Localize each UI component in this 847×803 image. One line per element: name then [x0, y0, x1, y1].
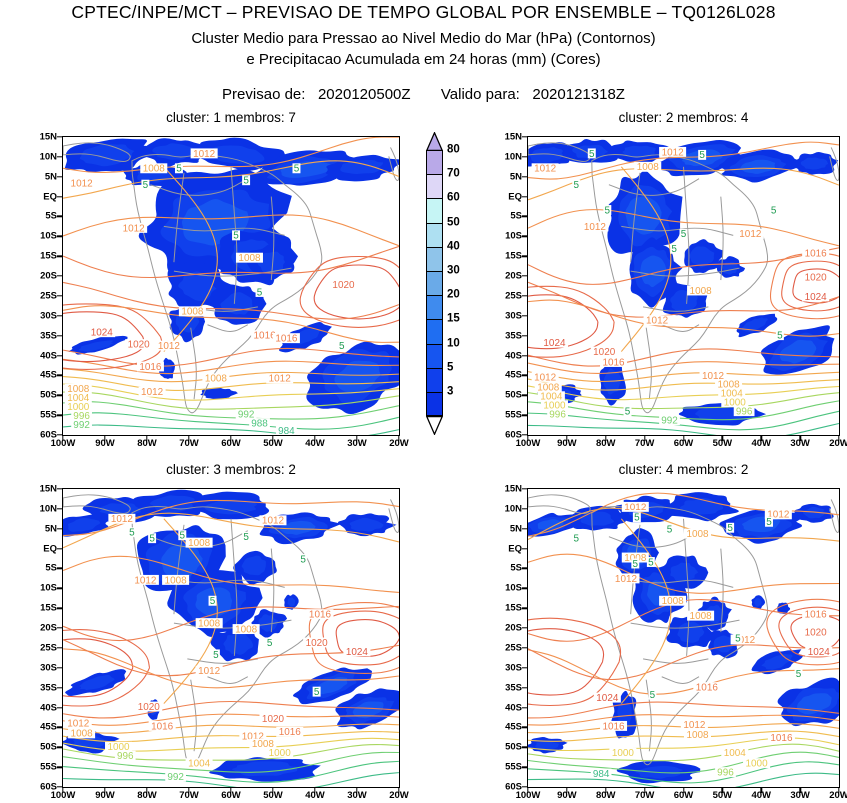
svg-text:1016: 1016: [770, 733, 793, 744]
y-axis-tick-label-10n: 10N: [40, 152, 57, 162]
svg-text:992: 992: [167, 772, 184, 783]
svg-text:1008: 1008: [181, 307, 204, 318]
map-graphic: 1012100810121012100810201024102010121016…: [63, 137, 399, 435]
y-axis-tick: [57, 488, 62, 489]
contour-label: 1016: [693, 682, 720, 693]
colorbar-precipitation: 80706050403020151053: [420, 132, 492, 440]
y-axis-tick: [57, 395, 62, 396]
svg-text:5: 5: [671, 244, 677, 255]
svg-text:5: 5: [213, 650, 219, 661]
y-axis-tick-label-20s: 20S: [40, 623, 57, 633]
y-axis-tick: [57, 528, 62, 529]
y-axis-tick-label-25s: 25S: [505, 291, 522, 301]
colorbar-tick-label: 30: [447, 265, 460, 277]
svg-text:5: 5: [771, 205, 777, 216]
y-axis-tick: [522, 747, 527, 748]
y-axis-tick: [522, 216, 527, 217]
y-axis-tick-label-50s: 50S: [505, 743, 522, 753]
colorbar-tick-label: 70: [447, 168, 460, 180]
y-axis-tick-label-40s: 40S: [40, 703, 57, 713]
svg-text:1008: 1008: [188, 538, 211, 549]
contour-label: 996: [734, 406, 755, 417]
svg-text:992: 992: [73, 420, 90, 431]
contour-label: 1012: [259, 515, 286, 526]
x-axis-tick: [644, 788, 645, 793]
y-axis-tick-label-30s: 30S: [40, 663, 57, 673]
contour-label: 1024: [805, 646, 832, 657]
colorbar-segment: [426, 392, 443, 416]
y-axis-tick-label-10s: 10S: [505, 584, 522, 594]
y-axis-tick: [57, 295, 62, 296]
contour-label: 1008: [684, 730, 711, 741]
contour-label: 992: [165, 772, 186, 783]
y-axis-tick-label-20s: 20S: [40, 271, 57, 281]
svg-text:1000: 1000: [612, 748, 635, 759]
x-axis-tick: [356, 788, 357, 793]
y-axis-tick: [522, 335, 527, 336]
y-axis-tick-label-15n: 15N: [505, 484, 522, 494]
y-axis-tick-label-15s: 15S: [40, 603, 57, 613]
contour-label: 1024: [541, 338, 568, 349]
y-axis-tick: [57, 236, 62, 237]
svg-text:1004: 1004: [724, 748, 747, 759]
coastline: [207, 677, 247, 684]
colorbar-top-arrow-icon: [426, 132, 443, 151]
svg-text:1016: 1016: [805, 249, 828, 260]
x-axis-tick: [683, 436, 684, 441]
map-panel-cluster-3[interactable]: 1012101210081012100810081008101610201024…: [62, 488, 400, 788]
precip-contour-label: 5: [242, 532, 250, 543]
x-axis-tick: [230, 436, 231, 441]
y-axis-tick-label-45s: 45S: [40, 723, 57, 733]
contour-label: 1008: [233, 624, 260, 635]
panel-title-cluster-1: cluster: 1 membros: 7: [62, 110, 400, 125]
contour-label: 1008: [684, 529, 711, 540]
svg-text:988: 988: [251, 418, 268, 429]
colorbar-segment: [426, 271, 443, 295]
precip-contour-label: 5: [698, 150, 706, 161]
y-axis-tick: [57, 786, 62, 787]
contour-label: 1012: [132, 575, 159, 586]
y-axis-tick-label-30s: 30S: [505, 311, 522, 321]
precip-contour-label: 5: [266, 638, 274, 649]
colorbar-tick-label: 10: [447, 338, 460, 350]
isobar-contour: [528, 210, 839, 246]
contour-label: 1012: [737, 229, 764, 240]
y-axis-tick: [522, 588, 527, 589]
contour-label: 1008: [236, 253, 263, 264]
precipitation-shading: [751, 595, 765, 609]
contour-label: 1008: [687, 286, 714, 297]
x-axis-tick: [398, 436, 399, 441]
y-axis-tick: [522, 315, 527, 316]
y-axis-tick-label-5s: 5S: [45, 212, 57, 222]
y-axis-tick: [522, 275, 527, 276]
contour-label: 1000: [266, 748, 293, 759]
y-axis-tick-label-55s: 55S: [40, 762, 57, 772]
precip-contour-label: 5: [128, 527, 136, 538]
svg-text:1012: 1012: [624, 502, 647, 513]
svg-text:1012: 1012: [615, 574, 638, 585]
x-axis-tick: [605, 436, 606, 441]
svg-text:1012: 1012: [739, 229, 762, 240]
contour-label: 1020: [135, 702, 162, 713]
colorbar-segment: [426, 344, 443, 368]
contour-label: 1008: [68, 728, 95, 739]
precip-contour-label: 5: [256, 287, 264, 298]
y-axis-tick-label-10s: 10S: [40, 232, 57, 242]
y-axis-tick-label-35s: 35S: [505, 331, 522, 341]
colorbar-tick-label: 50: [447, 217, 460, 229]
x-axis-tick: [314, 788, 315, 793]
plot-area-3[interactable]: 1012101210081012100810081008101610201024…: [62, 488, 400, 788]
contour-label: 1012: [622, 502, 649, 513]
y-axis-tick: [522, 528, 527, 529]
y-axis-tick-label-25s: 25S: [40, 643, 57, 653]
x-axis-tick: [146, 436, 147, 441]
y-axis-tick-label-20s: 20S: [505, 271, 522, 281]
y-axis-tick-label-35s: 35S: [40, 683, 57, 693]
svg-text:1012: 1012: [111, 514, 134, 525]
y-axis-tick-label-10s: 10S: [40, 584, 57, 594]
colorbar-tick-label: 80: [447, 144, 460, 156]
contour-label: 1008: [162, 575, 189, 586]
x-axis-tick: [527, 436, 528, 441]
precip-contour-label: 5: [209, 596, 217, 607]
contour-label: 1012: [681, 719, 708, 730]
colorbar-tick-label: 3: [447, 386, 453, 398]
svg-text:5: 5: [650, 690, 656, 701]
svg-text:1016: 1016: [254, 331, 277, 342]
svg-text:1020: 1020: [805, 272, 828, 283]
y-axis-tick-label-25s: 25S: [505, 643, 522, 653]
y-axis-tick: [57, 335, 62, 336]
contour-label: 992: [659, 415, 680, 426]
y-axis-tick-label-10s: 10S: [505, 232, 522, 242]
colorbar-segment: [426, 198, 443, 222]
map-panel-cluster-1[interactable]: 1012100810121012100810201024102010121016…: [62, 136, 400, 436]
y-axis-tick-label-eq: EQ: [43, 192, 57, 202]
plot-area-4[interactable]: 1012101210081008101210081008101610201024…: [527, 488, 840, 788]
y-axis-tick: [522, 156, 527, 157]
contour-label: 1012: [196, 666, 223, 677]
y-axis-tick: [522, 255, 527, 256]
svg-text:1012: 1012: [71, 179, 94, 190]
y-axis-tick-label-eq: EQ: [508, 544, 522, 554]
x-axis-tick: [799, 788, 800, 793]
svg-text:5: 5: [633, 559, 639, 570]
panel-title-cluster-2: cluster: 2 membros: 4: [527, 110, 840, 125]
precip-contour-label: 5: [666, 524, 674, 535]
y-axis-tick-label-10n: 10N: [40, 504, 57, 514]
precip-contour-label: 5: [776, 330, 784, 341]
x-axis-tick: [146, 788, 147, 793]
y-axis-tick-label-30s: 30S: [505, 663, 522, 673]
contour-label: 1020: [303, 638, 330, 649]
x-axis-tick: [272, 788, 273, 793]
y-axis-tick-label-45s: 45S: [40, 371, 57, 381]
y-axis-tick: [57, 548, 62, 549]
contour-label: 1012: [532, 372, 559, 383]
contour-label: 1008: [687, 611, 714, 622]
svg-text:1024: 1024: [805, 292, 828, 303]
precipitation-shading: [663, 492, 739, 521]
svg-text:996: 996: [117, 751, 134, 762]
svg-text:1020: 1020: [128, 339, 151, 350]
y-axis-tick: [57, 707, 62, 708]
contour-label: 1008: [140, 163, 167, 174]
precipitation-shading: [734, 308, 780, 340]
svg-text:1024: 1024: [346, 647, 369, 658]
x-axis-tick: [838, 436, 839, 441]
isobar-contour: [63, 425, 399, 435]
contour-label: 1004: [186, 758, 213, 769]
svg-text:5: 5: [634, 513, 640, 524]
svg-text:1008: 1008: [71, 729, 94, 740]
x-axis-tick: [230, 788, 231, 793]
y-axis-tick: [57, 196, 62, 197]
y-axis-tick: [522, 508, 527, 509]
y-axis-tick: [522, 236, 527, 237]
y-axis-tick: [522, 355, 527, 356]
contour-label: 1008: [179, 306, 206, 317]
y-axis-tick-label-5n: 5N: [510, 172, 522, 182]
precip-contour-label: 5: [313, 687, 321, 698]
y-axis-tick: [57, 588, 62, 589]
map-panel-cluster-4[interactable]: 1012101210081008101210081008101610201024…: [527, 488, 840, 788]
x-axis-tick: [761, 436, 762, 441]
svg-text:1008: 1008: [690, 611, 713, 622]
contour-label: 1012: [68, 178, 95, 189]
forecast-validity-line: Previsao de: 2020120500Z Valido para: 20…: [0, 86, 847, 103]
svg-text:5: 5: [257, 287, 263, 298]
svg-text:1024: 1024: [543, 338, 566, 349]
y-axis-tick-label-35s: 35S: [40, 331, 57, 341]
svg-text:5: 5: [699, 150, 705, 161]
svg-text:1008: 1008: [205, 374, 228, 385]
contour-label: 1012: [644, 315, 671, 326]
y-axis-tick-label-5n: 5N: [45, 524, 57, 534]
precip-contour-label: 5: [680, 229, 688, 240]
x-axis-tick: [314, 436, 315, 441]
y-axis-tick: [522, 176, 527, 177]
x-axis-tick: [188, 788, 189, 793]
contour-label: 1012: [155, 341, 182, 352]
y-axis-tick-label-5s: 5S: [510, 564, 522, 574]
valid-for-label: Valido para:: [441, 86, 520, 103]
svg-text:1016: 1016: [151, 721, 174, 732]
colorbar-segment: [426, 150, 443, 174]
x-axis-tick: [62, 436, 63, 441]
y-axis-tick: [57, 434, 62, 435]
svg-text:5: 5: [777, 331, 783, 342]
y-axis-tick: [57, 156, 62, 157]
y-axis-tick: [522, 687, 527, 688]
y-axis-tick: [522, 295, 527, 296]
y-axis-tick: [522, 548, 527, 549]
plot-area-2[interactable]: 1012100810121012101210161020102410081012…: [527, 136, 840, 436]
svg-text:5: 5: [180, 531, 186, 542]
precip-contour-label: 5: [175, 163, 183, 174]
coastline: [646, 328, 651, 400]
precip-contour-label: 5: [603, 205, 611, 216]
contour-label: 996: [547, 409, 568, 420]
y-axis-tick: [522, 667, 527, 668]
svg-text:1012: 1012: [198, 666, 221, 677]
contour-label: 1012: [266, 373, 293, 384]
y-axis-tick: [57, 687, 62, 688]
contour-label: 1020: [330, 280, 357, 291]
svg-text:984: 984: [593, 769, 610, 780]
svg-text:1008: 1008: [235, 624, 258, 635]
contour-label: 1020: [259, 713, 286, 724]
y-axis-tick: [57, 216, 62, 217]
y-axis-tick-label-5n: 5N: [45, 172, 57, 182]
contour-label: 1012: [532, 163, 559, 174]
svg-text:1012: 1012: [67, 718, 90, 729]
coastline: [207, 325, 247, 332]
y-axis-tick: [522, 434, 527, 435]
coastline: [830, 499, 839, 532]
y-axis-tick: [522, 488, 527, 489]
y-axis-tick-label-10n: 10N: [505, 152, 522, 162]
x-axis-tick: [722, 436, 723, 441]
svg-text:5: 5: [233, 231, 239, 242]
y-axis-tick: [522, 627, 527, 628]
svg-text:1012: 1012: [584, 222, 607, 233]
colorbar-tick-label: 60: [447, 193, 460, 205]
colorbar-tick-label: 15: [447, 314, 460, 326]
svg-text:1020: 1020: [805, 627, 828, 638]
precip-contour-label: 5: [670, 244, 678, 255]
svg-text:1012: 1012: [262, 516, 285, 527]
page-title: CPTEC/INPE/MCT – PREVISAO DE TEMPO GLOBA…: [0, 2, 847, 23]
y-axis-tick: [522, 568, 527, 569]
svg-text:5: 5: [314, 687, 320, 698]
svg-text:984: 984: [278, 426, 295, 435]
precip-contour-label: 5: [212, 649, 220, 660]
x-axis-tick: [683, 788, 684, 793]
valid-for-value: 2020121318Z: [532, 86, 625, 103]
y-axis-tick: [522, 375, 527, 376]
svg-text:1020: 1020: [138, 702, 161, 713]
svg-text:5: 5: [339, 341, 345, 352]
svg-text:5: 5: [149, 534, 155, 545]
contour-label: 1016: [149, 721, 176, 732]
colorbar-tick-label: 20: [447, 289, 460, 301]
svg-text:1008: 1008: [637, 162, 660, 173]
y-axis-tick: [57, 508, 62, 509]
svg-text:5: 5: [267, 638, 273, 649]
svg-text:1012: 1012: [662, 147, 685, 158]
contour-label: 1008: [202, 373, 229, 384]
map-panel-cluster-2[interactable]: 1012100810121012101210161020102410081012…: [527, 136, 840, 436]
y-axis-tick-label-35s: 35S: [505, 683, 522, 693]
contour-label: 1012: [120, 223, 147, 234]
contour-label: 1024: [88, 327, 115, 338]
svg-text:1016: 1016: [139, 362, 162, 373]
contour-label: 1012: [191, 148, 218, 159]
x-axis-tick: [398, 788, 399, 793]
y-axis-tick: [57, 176, 62, 177]
svg-text:1024: 1024: [596, 693, 619, 704]
precip-contour-label: 5: [299, 554, 307, 565]
svg-text:1012: 1012: [683, 720, 706, 731]
contour-label: 1016: [802, 248, 829, 259]
contour-label: 1024: [802, 291, 829, 302]
y-axis-tick: [522, 395, 527, 396]
colorbar-tick-label: 40: [447, 241, 460, 253]
x-axis-tick: [104, 436, 105, 441]
contour-label: 1008: [196, 618, 223, 629]
y-axis-tick-label-eq: EQ: [43, 544, 57, 554]
y-axis-tick-label-30s: 30S: [40, 311, 57, 321]
svg-text:5: 5: [589, 149, 595, 160]
svg-text:5: 5: [681, 229, 687, 240]
isobar-contour: [314, 265, 399, 319]
colorbar-segment: [426, 174, 443, 198]
precip-contour-label: 5: [647, 557, 655, 568]
contour-label: 1024: [594, 693, 621, 704]
precip-contour-label: 5: [232, 230, 240, 241]
precip-contour-label: 5: [588, 148, 596, 159]
svg-text:1008: 1008: [686, 730, 709, 741]
colorbar-tick-label: 5: [447, 362, 453, 374]
plot-area-1[interactable]: 1012100810121012100810201024102010121016…: [62, 136, 400, 436]
svg-text:992: 992: [661, 415, 678, 426]
y-axis-tick-label-50s: 50S: [40, 391, 57, 401]
svg-text:996: 996: [736, 407, 753, 418]
svg-text:5: 5: [573, 180, 579, 191]
y-axis-tick-label-15n: 15N: [40, 484, 57, 494]
svg-text:1012: 1012: [123, 223, 146, 234]
contour-label: 1004: [721, 748, 748, 759]
y-axis-tick: [522, 647, 527, 648]
y-axis-tick-label-5n: 5N: [510, 524, 522, 534]
contour-label: 1016: [802, 609, 829, 620]
x-axis-tick: [356, 436, 357, 441]
svg-text:1016: 1016: [275, 334, 298, 345]
map-graphic: 1012100810121012101210161020102410081012…: [528, 137, 839, 435]
precip-contour-label: 5: [765, 517, 773, 528]
svg-text:1008: 1008: [690, 286, 713, 297]
precipitation-shading: [191, 492, 269, 520]
contour-label: 1012: [139, 387, 166, 398]
precip-contour-label: 5: [631, 559, 639, 570]
precip-contour-label: 5: [292, 163, 300, 174]
svg-text:1016: 1016: [603, 357, 626, 368]
contour-label: 1020: [802, 272, 829, 283]
contour-label: 1000: [609, 748, 636, 759]
y-axis-tick-label-25s: 25S: [40, 291, 57, 301]
precip-contour-label: 5: [624, 406, 632, 417]
svg-text:1016: 1016: [603, 721, 626, 732]
y-axis-tick: [57, 375, 62, 376]
y-axis-tick: [522, 196, 527, 197]
contour-label: 1016: [306, 609, 333, 620]
precip-contour-label: 5: [770, 205, 778, 216]
x-axis-tick: [566, 788, 567, 793]
svg-text:1012: 1012: [158, 341, 181, 352]
svg-text:1020: 1020: [332, 280, 355, 291]
y-axis-tick: [57, 747, 62, 748]
y-axis-tick: [57, 568, 62, 569]
map-graphic: 1012101210081012100810081008101610201024…: [63, 489, 399, 787]
svg-text:5: 5: [735, 633, 741, 644]
svg-text:1024: 1024: [808, 647, 831, 658]
x-axis-tick: [838, 788, 839, 793]
y-axis-tick-label-eq: EQ: [508, 192, 522, 202]
